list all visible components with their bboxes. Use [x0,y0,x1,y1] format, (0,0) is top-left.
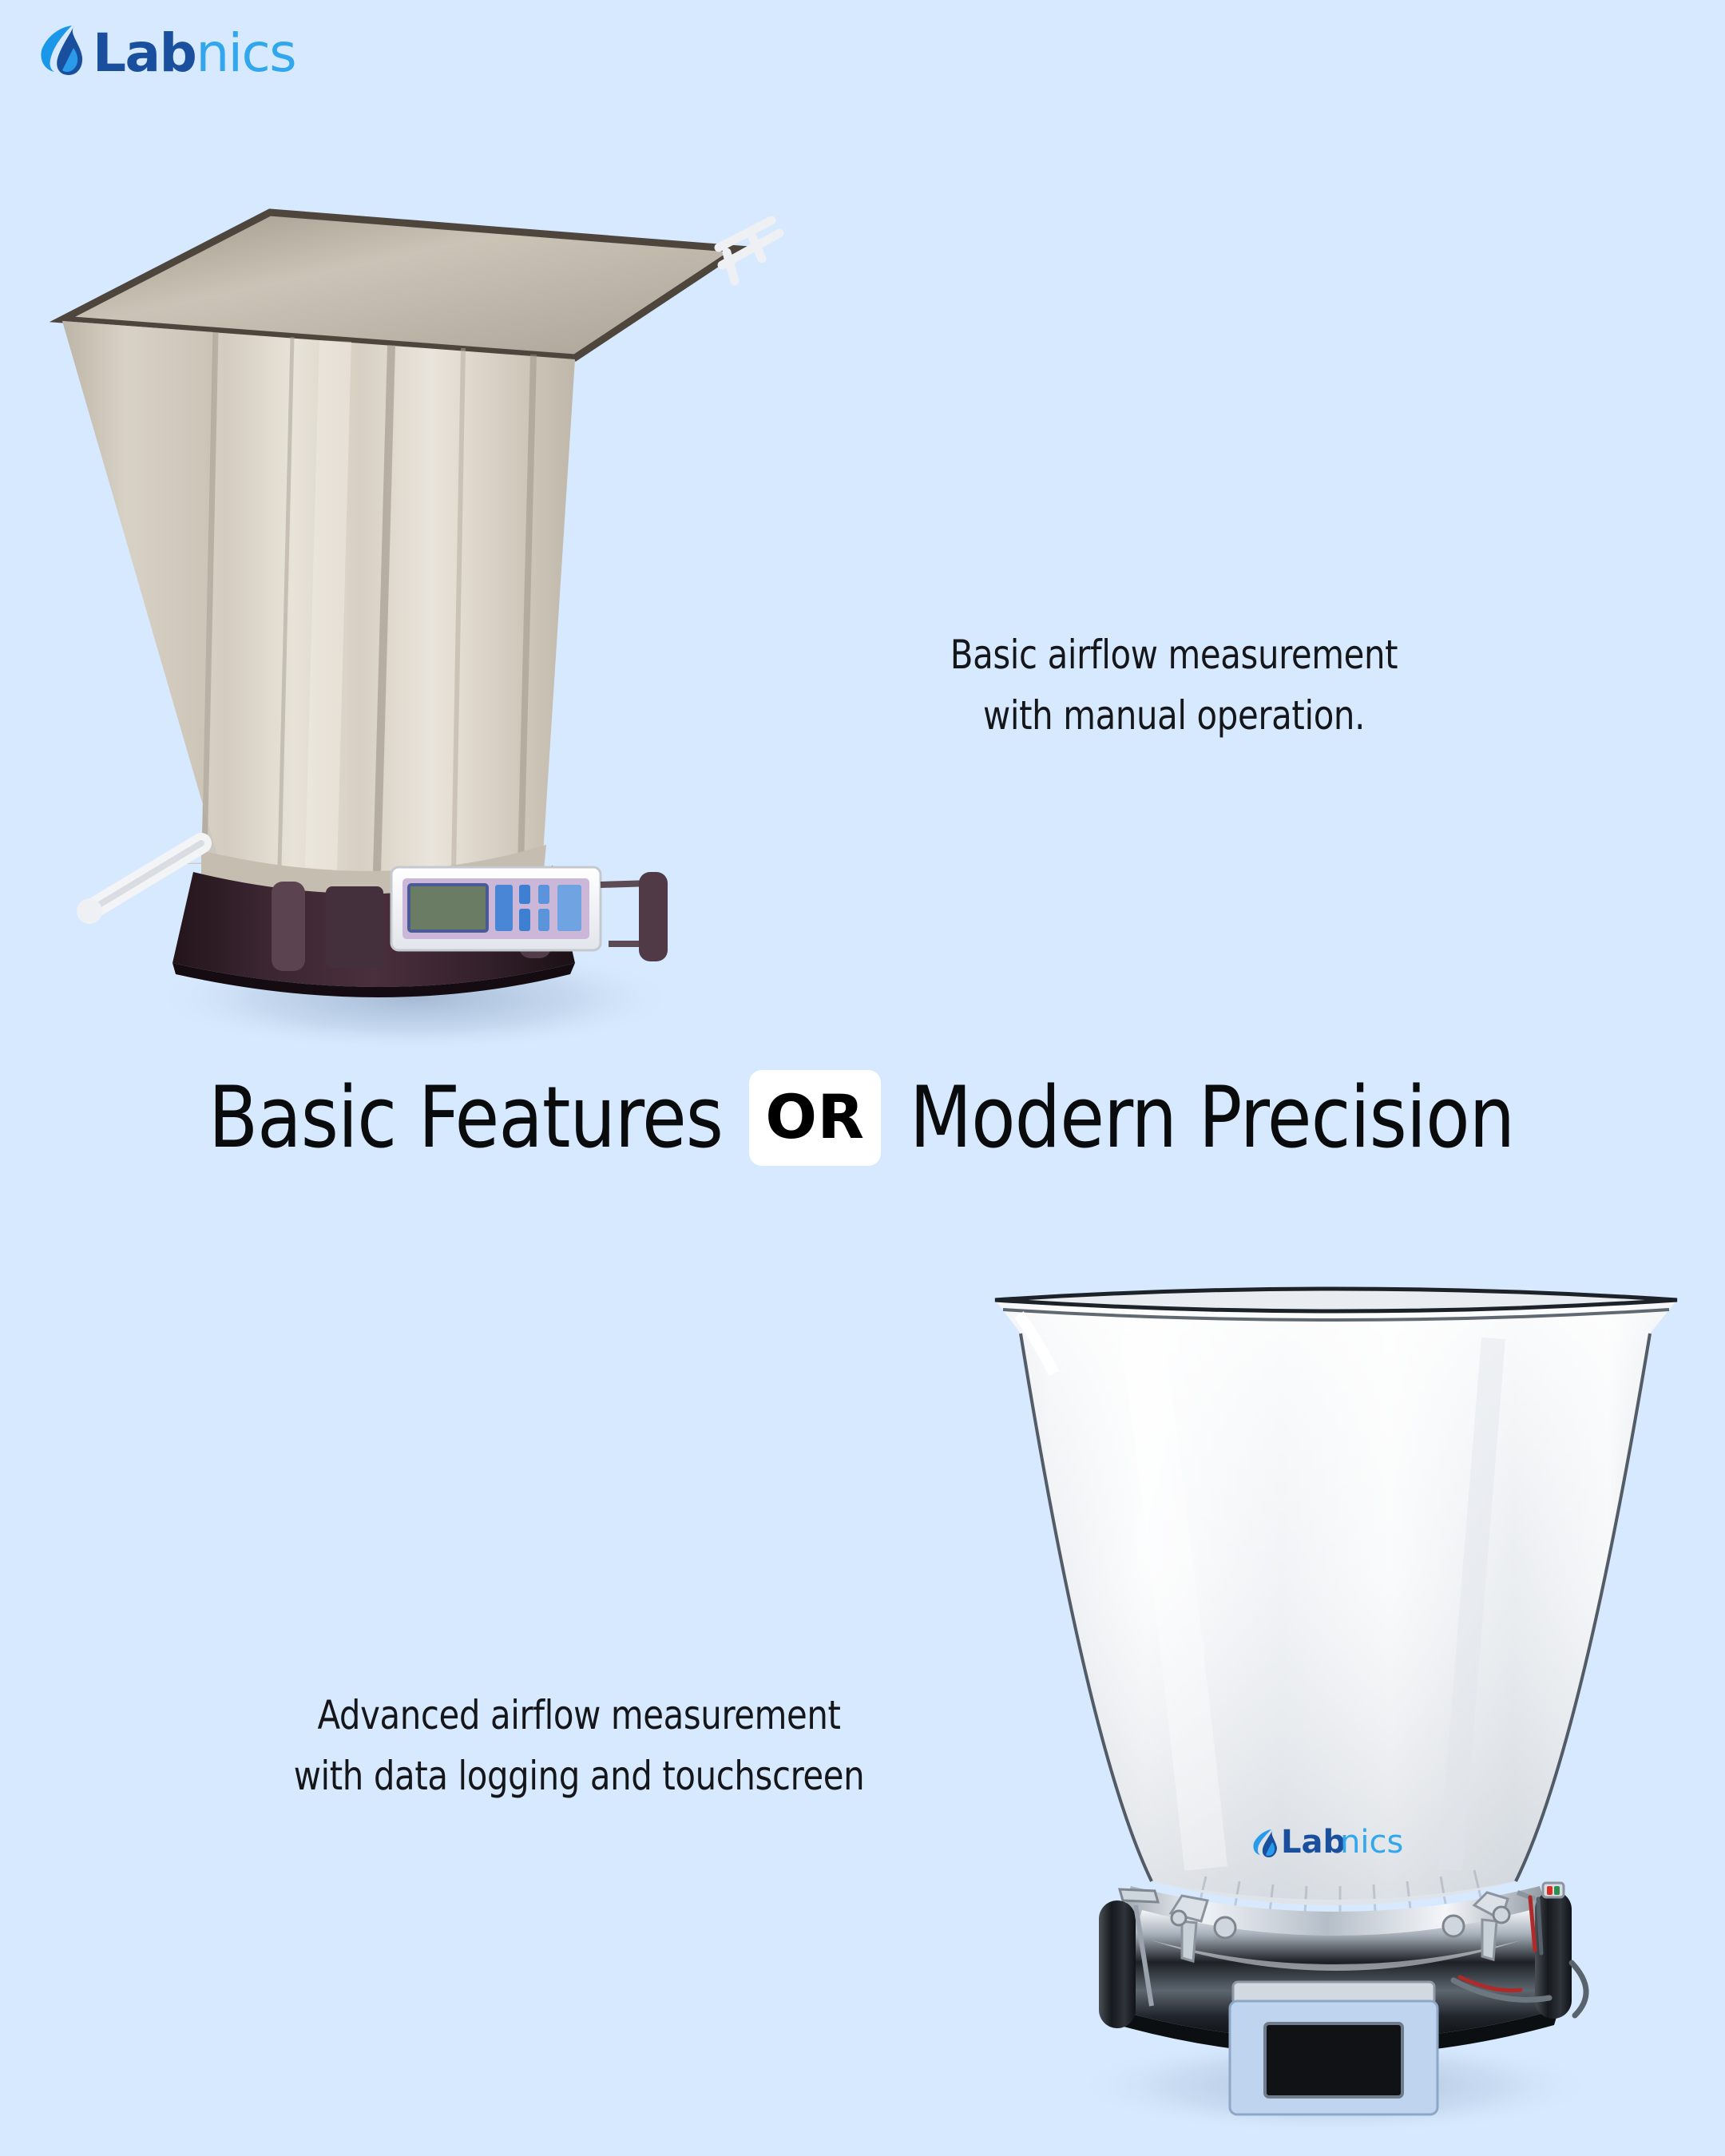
brand-logo[interactable]: Labnics [38,18,295,89]
headline-left-text: Basic Features [208,1073,723,1162]
headline: Basic Features OR Modern Precision [0,1070,1725,1166]
basic-hood-illustration [16,176,815,1078]
probe-handle [77,843,201,924]
caption-advanced-line1: Advanced airflow measurement [200,1685,958,1746]
touchscreen-glass [1265,2023,1402,2097]
hood-brand-word-part1: Lab [1281,1824,1346,1861]
status-indicator-led [1554,1886,1560,1895]
caption-advanced: Advanced airflow measurement with data l… [200,1685,958,1806]
brand-word-part2: nics [196,22,295,84]
caption-advanced-line2: with data logging and touchscreen [200,1746,958,1806]
headline-or-badge: OR [749,1070,880,1166]
swoosh-wave-icon [38,24,89,83]
base-handle-far-right[interactable] [639,872,668,961]
caption-basic: Basic airflow measurement with manual op… [862,624,1485,746]
product-image-advanced: Lab nics [942,1238,1725,2156]
base-access-panel[interactable] [326,886,383,968]
hood-fabric-shading [995,1290,1677,1900]
advanced-hood-illustration: Lab nics [942,1238,1725,2156]
caption-basic-line2: with manual operation. [862,685,1485,746]
hood-fabric-left-facet [62,321,220,864]
handheld-lcd-meter[interactable] [391,867,601,950]
brand-wordmark: Labnics [93,27,295,80]
brand-word-part1: Lab [93,22,196,84]
touchscreen-display[interactable] [1230,1982,1437,2114]
hood-brand-word-part2: nics [1340,1824,1403,1861]
power-indicator-housing [1543,1883,1564,1897]
product-image-basic [16,176,815,1078]
headline-right-text: Modern Precision [909,1073,1513,1162]
caption-basic-line1: Basic airflow measurement [862,624,1485,685]
power-indicator-led [1547,1886,1552,1895]
base-handle-left[interactable] [272,882,305,971]
hood-hook [719,220,779,281]
